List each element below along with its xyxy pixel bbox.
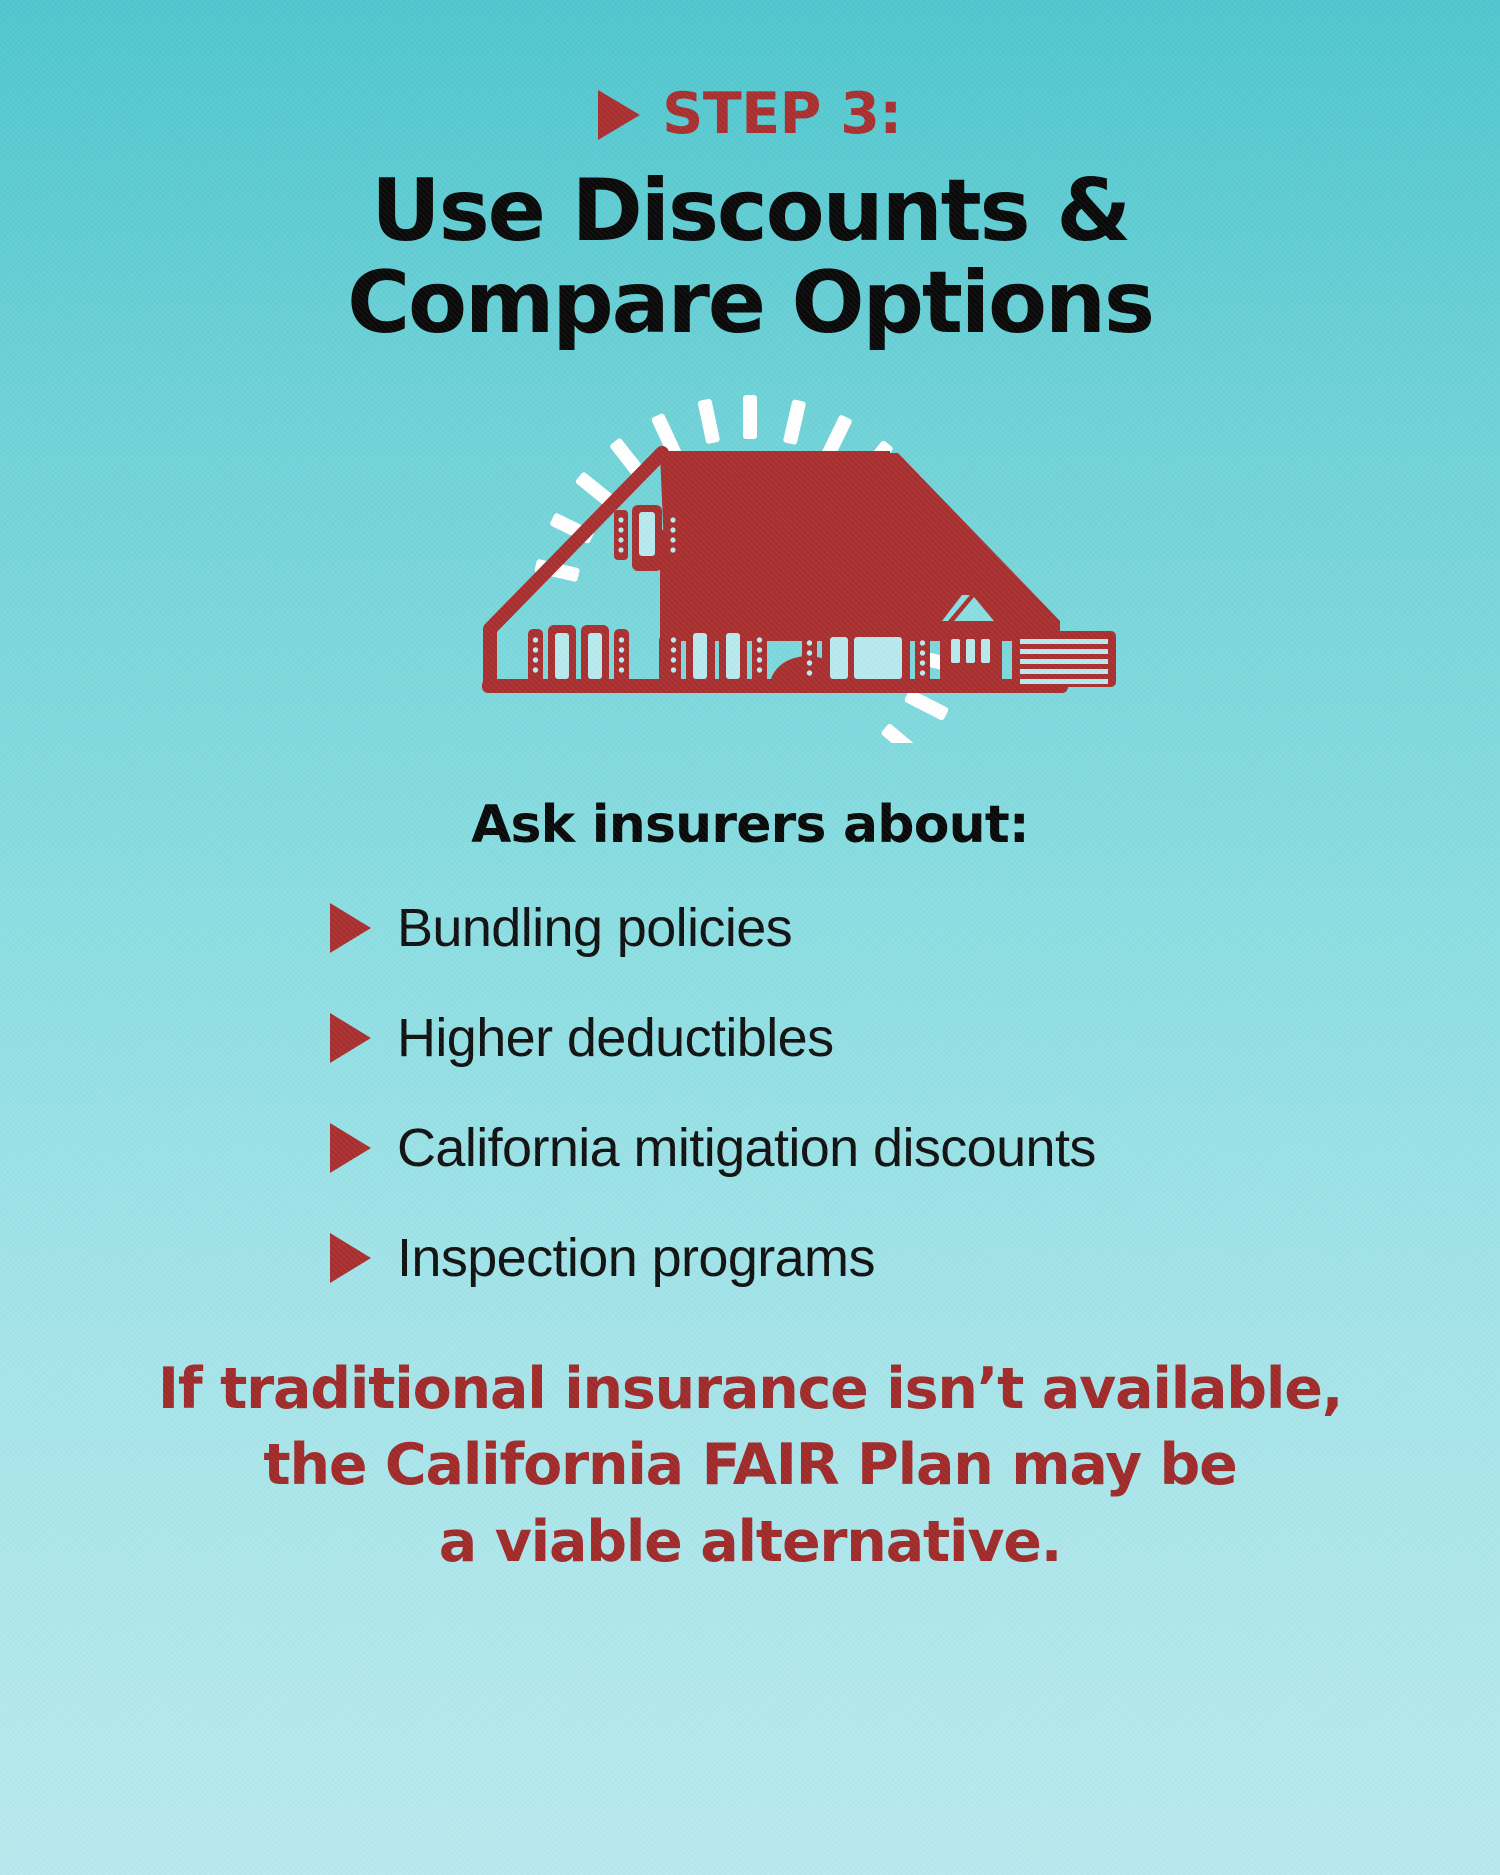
list-item-label: Bundling policies — [397, 897, 792, 959]
house-with-sunburst-illustration — [0, 383, 1500, 743]
garage-door-icon — [1012, 631, 1116, 687]
ask-insurers-heading: Ask insurers about: — [0, 795, 1500, 855]
list-item: Inspection programs — [0, 1227, 1500, 1289]
list-item: California mitigation discounts — [0, 1117, 1500, 1179]
step-eyebrow: STEP 3: — [0, 0, 1500, 143]
play-triangle-icon — [330, 1013, 371, 1063]
list-item-label: Higher deductibles — [397, 1007, 833, 1069]
play-triangle-icon — [330, 1233, 371, 1283]
front-window-left-icon — [528, 625, 629, 687]
footnote-line-3: a viable alternative. — [0, 1504, 1500, 1580]
list-item-label: California mitigation discounts — [397, 1117, 1096, 1179]
play-triangle-icon — [330, 1123, 371, 1173]
page-title-line-1: Use Discounts & — [0, 165, 1500, 257]
play-triangle-icon — [330, 903, 371, 953]
page-title-line-2: Compare Options — [0, 257, 1500, 349]
house-illustration-svg — [370, 383, 1130, 743]
page-title: Use Discounts & Compare Options — [0, 165, 1500, 349]
footnote-line-2: the California FAIR Plan may be — [0, 1427, 1500, 1503]
discount-bullet-list: Bundling policies Higher deductibles Cal… — [0, 897, 1500, 1289]
step-label: STEP 3: — [662, 86, 901, 143]
list-item-label: Inspection programs — [397, 1227, 875, 1289]
front-door-icon — [940, 627, 1002, 687]
footnote-line-1: If traditional insurance isn’t available… — [0, 1351, 1500, 1427]
infographic-poster: STEP 3: Use Discounts & Compare Options — [0, 0, 1500, 1875]
fair-plan-footnote: If traditional insurance isn’t available… — [0, 1351, 1500, 1580]
list-item: Bundling policies — [0, 897, 1500, 959]
play-triangle-icon — [598, 90, 640, 140]
list-item: Higher deductibles — [0, 1007, 1500, 1069]
